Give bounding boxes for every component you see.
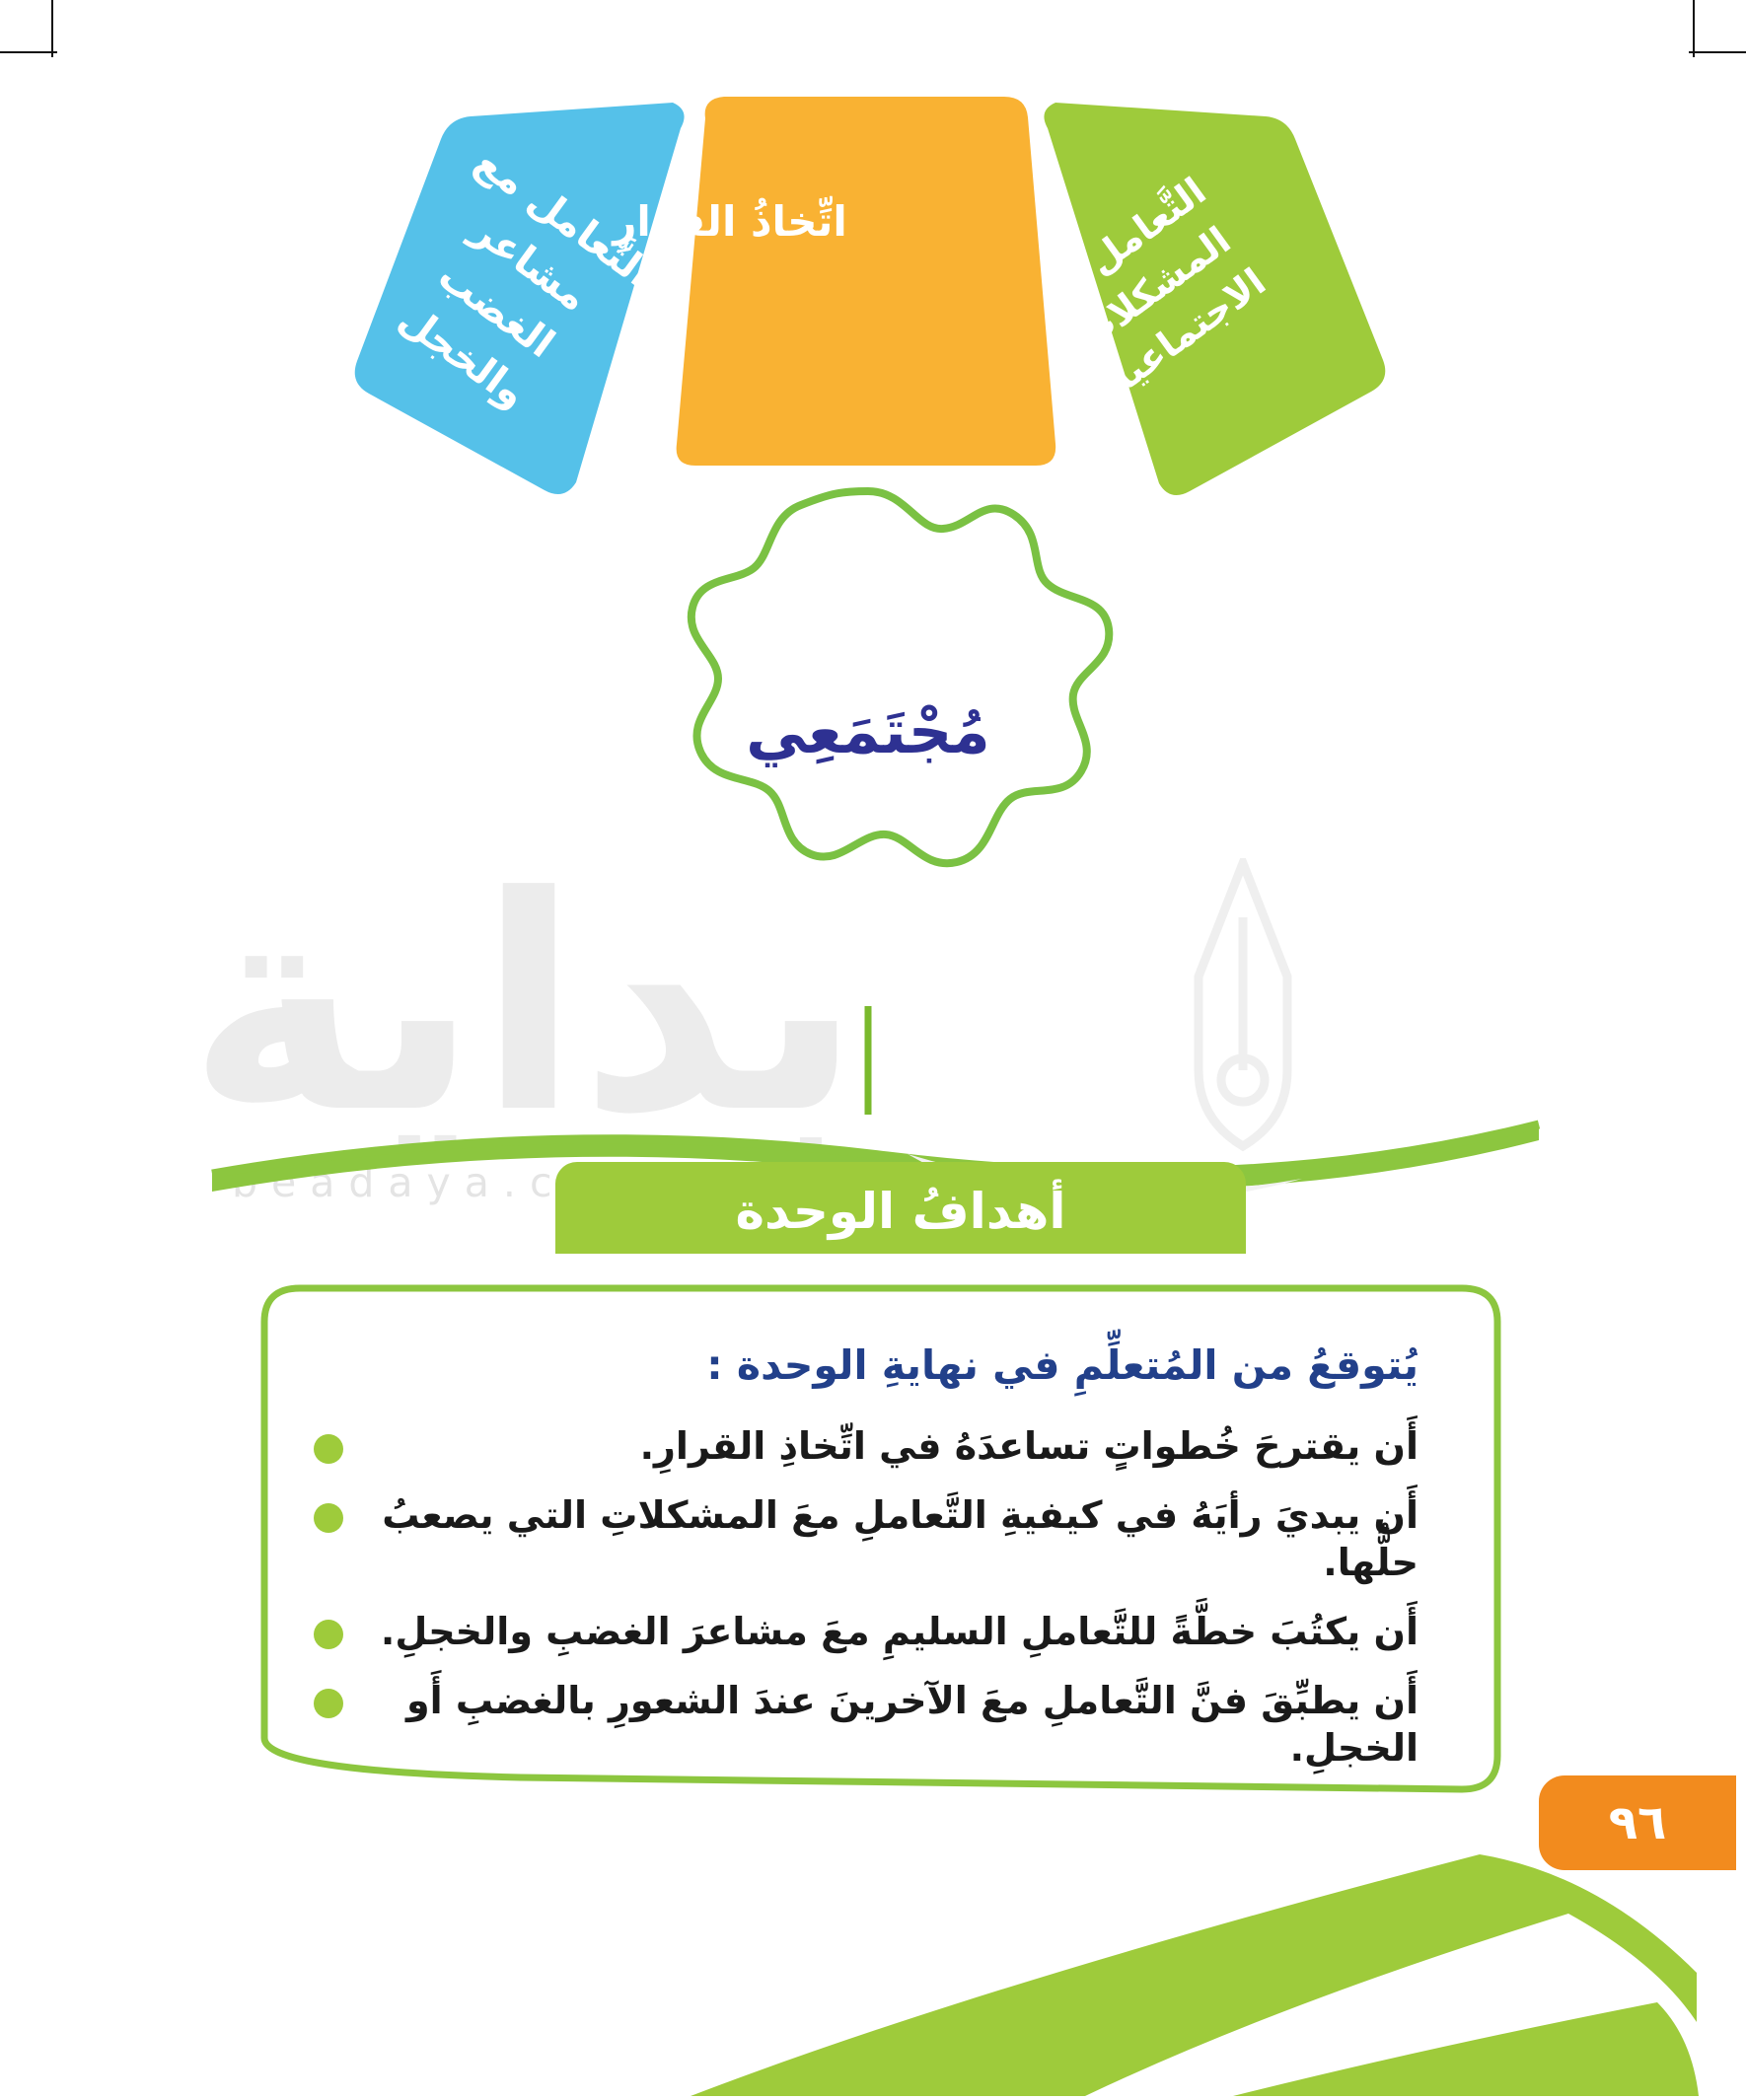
goal-item: أَن يقترحَ خُطواتٍ تساعدَهُ في اتِّخاذِ …: [314, 1422, 1419, 1471]
page-number-badge: ٩٦: [1539, 1775, 1736, 1870]
goal-item: أَن يكتُبَ خطَّةً للتَّعاملِ السليمِ معَ…: [314, 1608, 1419, 1656]
goal-text: أَن يكتُبَ خطَّةً للتَّعاملِ السليمِ معَ…: [365, 1608, 1419, 1656]
petal-orange[interactable]: [677, 97, 1056, 466]
goal-text: أَن يقترحَ خُطواتٍ تساعدَهُ في اتِّخاذِ …: [365, 1422, 1419, 1471]
bullet-dot-icon: [314, 1620, 343, 1649]
goal-text: أَن يبديَ رأيَهُ في كيفيةِ التَّعاملِ مع…: [365, 1491, 1419, 1587]
bullet-dot-icon: [314, 1434, 343, 1464]
goals-content: يُتوقعُ من المُتعلِّمِ في نهايةِ الوحدة …: [225, 1282, 1537, 1835]
bottom-decoration: [0, 1854, 1746, 2096]
textbook-page: بداية beadaya.com موقع بداية التعليمي ال…: [0, 0, 1746, 2096]
bullet-dot-icon: [314, 1689, 343, 1718]
petal-label-orange: اتِّخاذُ القرارِ: [582, 192, 878, 253]
goals-banner-title: أهدافُ الوحدة: [736, 1183, 1066, 1240]
goals-banner: أهدافُ الوحدة: [555, 1162, 1246, 1254]
goal-item: أَن يطبِّقَ فنَّ التَّعاملِ معَ الآخرينَ…: [314, 1677, 1419, 1773]
goal-item: أَن يبديَ رأيَهُ في كيفيةِ التَّعاملِ مع…: [314, 1491, 1419, 1587]
flower-center-word: مُجْتَمَعِي: [592, 695, 1144, 767]
goal-text: أَن يطبِّقَ فنَّ التَّعاملِ معَ الآخرينَ…: [365, 1677, 1419, 1773]
goals-intro: يُتوقعُ من المُتعلِّمِ في نهايةِ الوحدة …: [314, 1341, 1419, 1389]
bullet-dot-icon: [314, 1503, 343, 1533]
page-number: ٩٦: [1609, 1795, 1667, 1850]
